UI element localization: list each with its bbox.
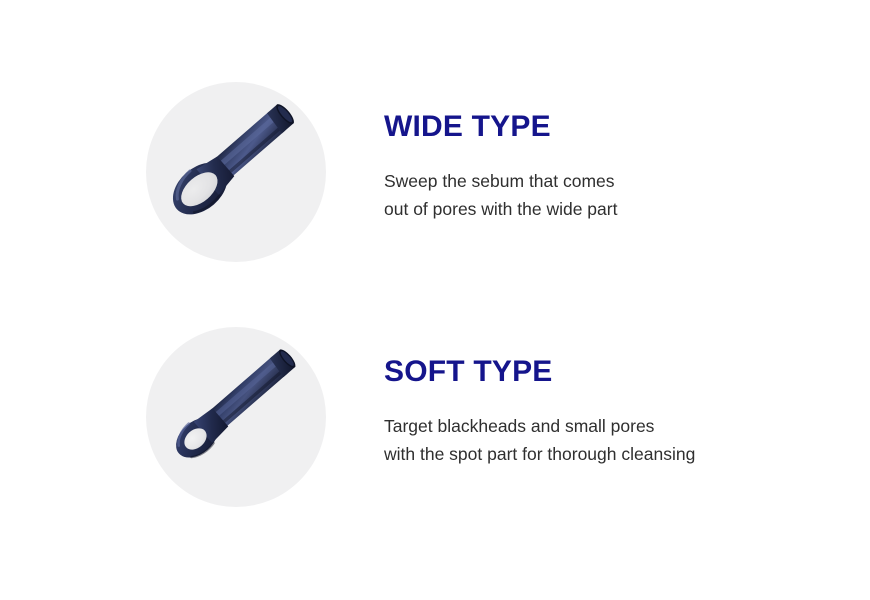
feature-description-line: out of pores with the wide part (384, 195, 824, 223)
feature-title-soft-type: SOFT TYPE (384, 327, 824, 389)
feature-image-wide-type (146, 82, 326, 262)
feature-description-wide-type: Sweep the sebum that comes out of pores … (384, 144, 824, 223)
feature-row-soft-type: SOFT TYPE Target blackheads and small po… (0, 327, 870, 507)
feature-description-line: Target blackheads and small pores (384, 412, 824, 440)
feature-row-wide-type: WIDE TYPE Sweep the sebum that comes out… (0, 82, 870, 262)
feature-description-line: with the spot part for thorough cleansin… (384, 440, 824, 468)
feature-copy-wide-type: WIDE TYPE Sweep the sebum that comes out… (384, 82, 824, 223)
feature-title-wide-type: WIDE TYPE (384, 82, 824, 144)
feature-list: WIDE TYPE Sweep the sebum that comes out… (0, 0, 870, 600)
feature-copy-soft-type: SOFT TYPE Target blackheads and small po… (384, 327, 824, 468)
wide-loop-extractor-tool-icon (146, 82, 326, 262)
feature-image-soft-type (146, 327, 326, 507)
soft-spot-extractor-tool-icon (146, 327, 326, 507)
feature-description-soft-type: Target blackheads and small pores with t… (384, 389, 824, 468)
feature-description-line: Sweep the sebum that comes (384, 167, 824, 195)
